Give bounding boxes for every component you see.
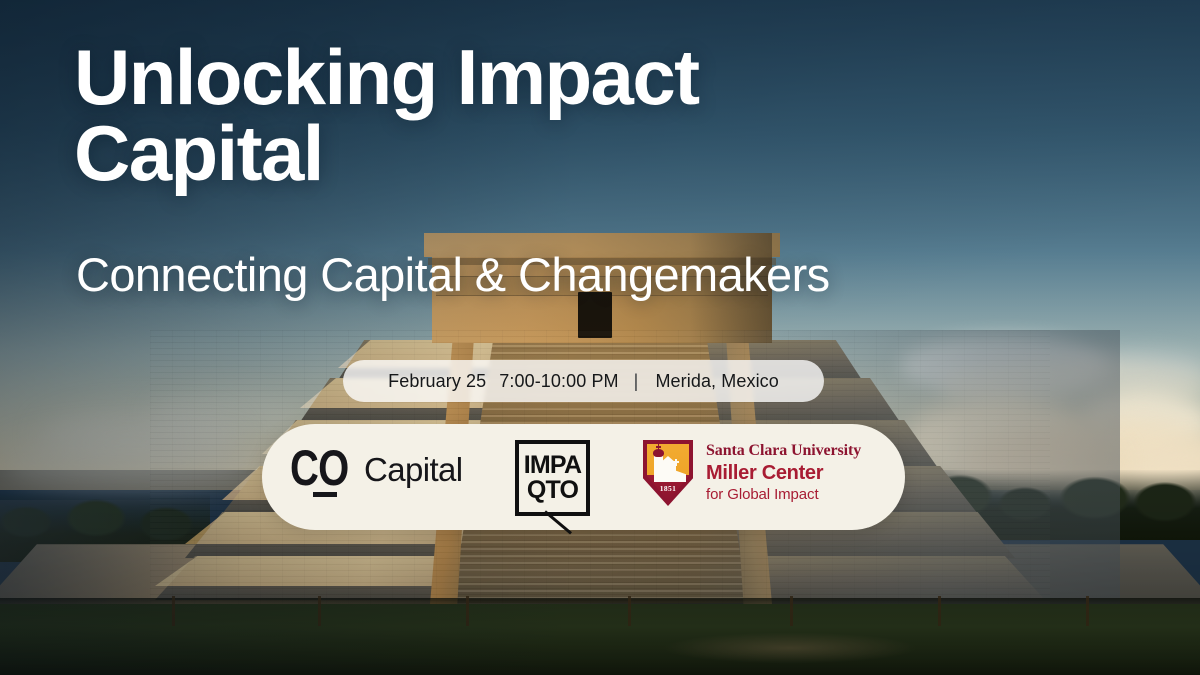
event-location: Merida, Mexico: [655, 371, 778, 392]
mission-church-icon: [652, 450, 686, 482]
co-capital-underline: [313, 492, 337, 497]
banner-content: Unlocking Impact Capital Connecting Capi…: [0, 0, 1200, 675]
impaqto-line-1: IMPA: [524, 453, 581, 479]
scu-shield-icon: 1851: [643, 440, 693, 506]
miller-center-logo: 1851 Santa Clara University Miller Cente…: [643, 440, 861, 506]
co-capital-mark: CO: [290, 446, 348, 490]
event-subtitle: Connecting Capital & Changemakers: [76, 250, 1076, 299]
miller-center-wordmark: Santa Clara University Miller Center for…: [706, 441, 861, 505]
sponsor-logo-bar: CO Capital IMPA QTO: [262, 424, 905, 530]
event-title: Unlocking Impact Capital: [74, 40, 894, 191]
scu-university-name: Santa Clara University: [706, 441, 861, 461]
event-details-pill: February 25 7:00-10:00 PM | Merida, Mexi…: [343, 360, 824, 402]
church-cross-horizontal: [656, 446, 662, 448]
impaqto-q-tail: [544, 510, 572, 534]
impaqto-logo: IMPA QTO: [515, 440, 590, 516]
shield-founding-year: 1851: [643, 484, 693, 493]
miller-center-name: Miller Center: [706, 461, 861, 485]
event-details-text: February 25 7:00-10:00 PM | Merida, Mexi…: [388, 371, 779, 392]
impaqto-line-2: QTO: [527, 478, 578, 504]
church-dome: [653, 449, 664, 457]
event-time: 7:00-10:00 PM: [499, 371, 618, 392]
event-banner: Unlocking Impact Capital Connecting Capi…: [0, 0, 1200, 675]
co-capital-logo: CO Capital: [290, 446, 463, 490]
details-separator: |: [634, 371, 639, 392]
event-date: February 25: [388, 371, 486, 392]
miller-center-tagline: for Global Impact: [706, 486, 861, 505]
co-capital-wordmark: Capital: [364, 451, 463, 490]
church-bell-tower: [654, 455, 663, 482]
church-wing-cross-horizontal: [673, 461, 679, 463]
